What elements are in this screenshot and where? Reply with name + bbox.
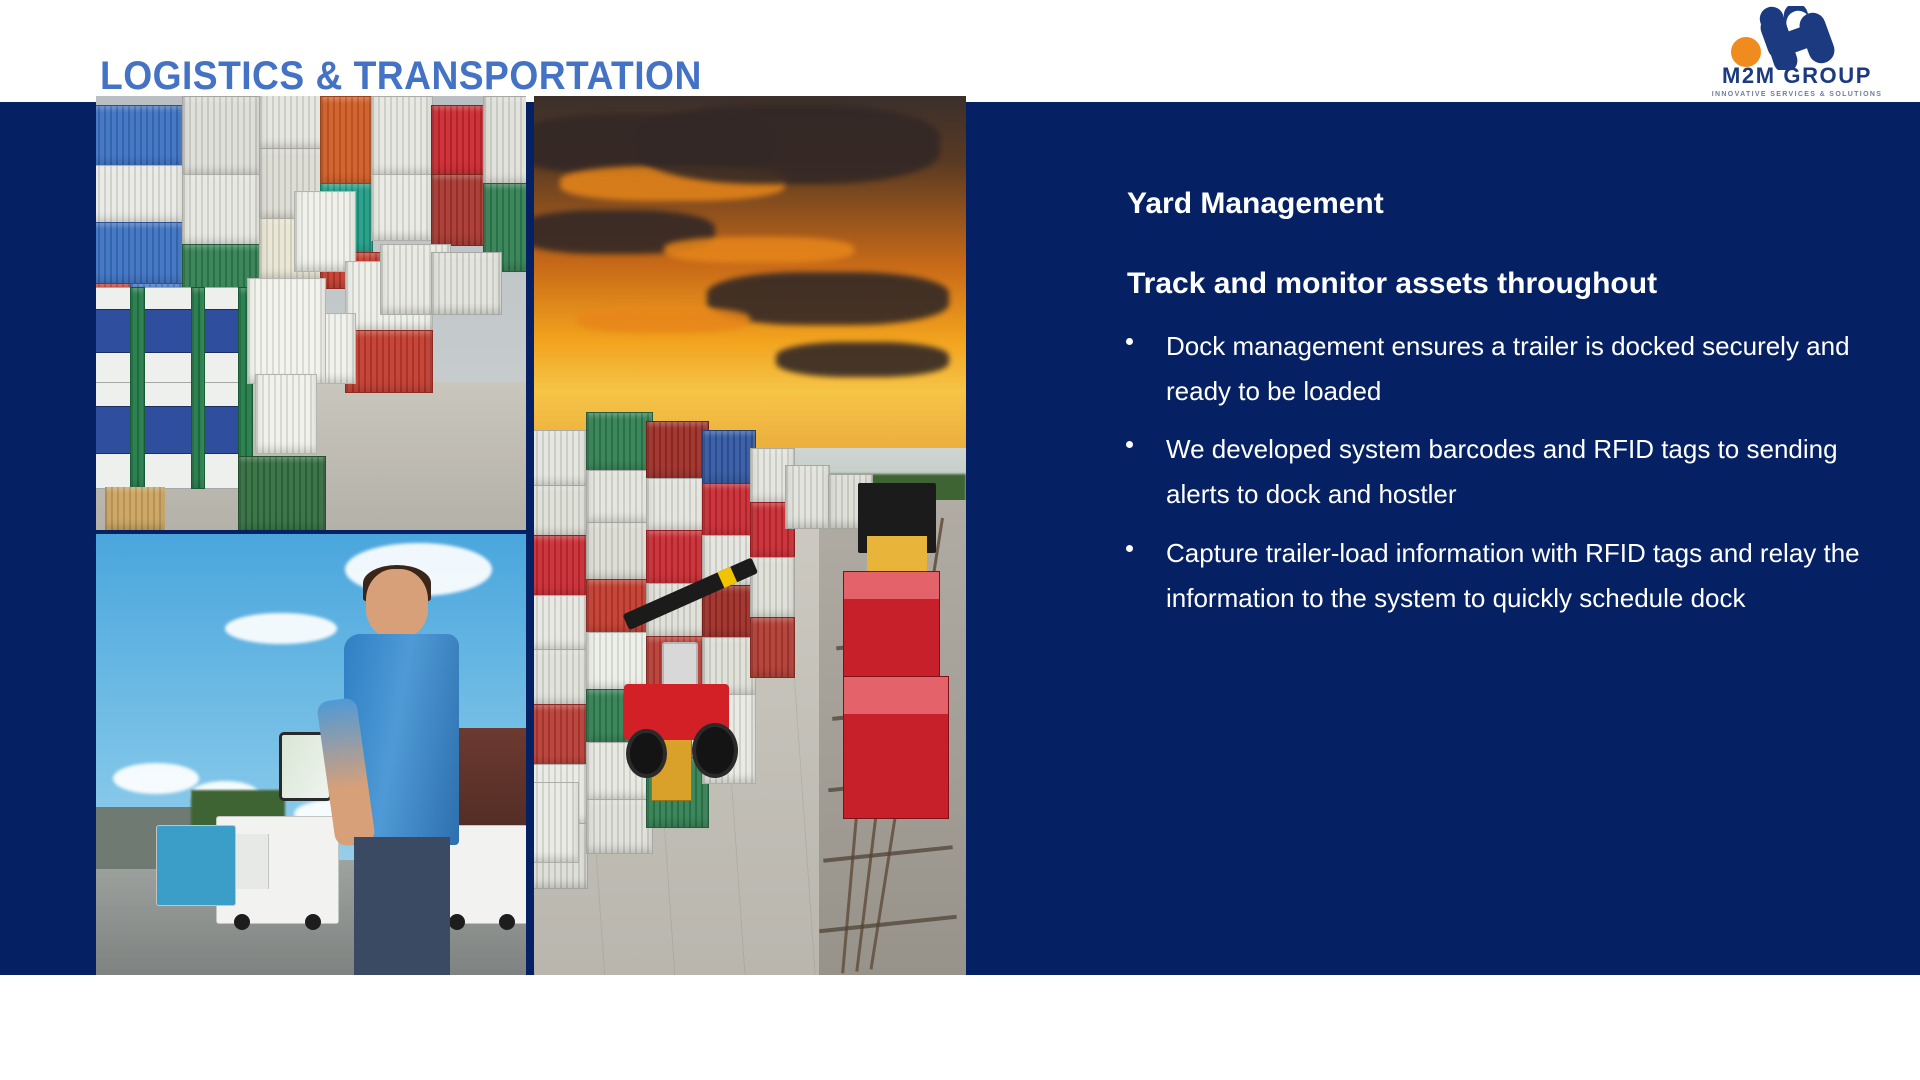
list-item: We developed system barcodes and RFID ta… — [1122, 427, 1862, 516]
page-title: LOGISTICS & TRANSPORTATION — [100, 54, 702, 99]
orange-dot-icon — [1731, 37, 1761, 67]
photo-container-yard — [96, 96, 526, 530]
bullet-dot-icon — [1126, 441, 1133, 448]
list-item: Capture trailer-load information with RF… — [1122, 531, 1862, 620]
bullet-text: We developed system barcodes and RFID ta… — [1166, 434, 1838, 509]
list-item: Dock management ensures a trailer is doc… — [1122, 324, 1862, 413]
logo[interactable]: M2M GROUP INNOVATIVE SERVICES & SOLUTION… — [1702, 4, 1892, 108]
bullet-list: Dock management ensures a trailer is doc… — [1122, 324, 1862, 620]
content-heading: Yard Management — [1127, 186, 1862, 222]
logo-tagline: INNOVATIVE SERVICES & SOLUTIONS — [1702, 91, 1892, 98]
m-monogram-icon — [1730, 6, 1870, 70]
m2m-logo-mark — [1702, 4, 1892, 68]
bullet-text: Capture trailer-load information with RF… — [1166, 538, 1860, 613]
content-text-column: Yard Management Track and monitor assets… — [1122, 186, 1862, 634]
photo-intermodal-yard — [534, 96, 966, 975]
bullet-dot-icon — [1126, 338, 1133, 345]
slide-canvas: LOGISTICS & TRANSPORTATION M2M GROUP INN… — [0, 0, 1920, 1080]
bullet-dot-icon — [1126, 545, 1133, 552]
bullet-text: Dock management ensures a trailer is doc… — [1166, 331, 1850, 406]
content-subheading: Track and monitor assets throughout — [1127, 266, 1862, 302]
photo-worker-tablet — [96, 534, 526, 975]
